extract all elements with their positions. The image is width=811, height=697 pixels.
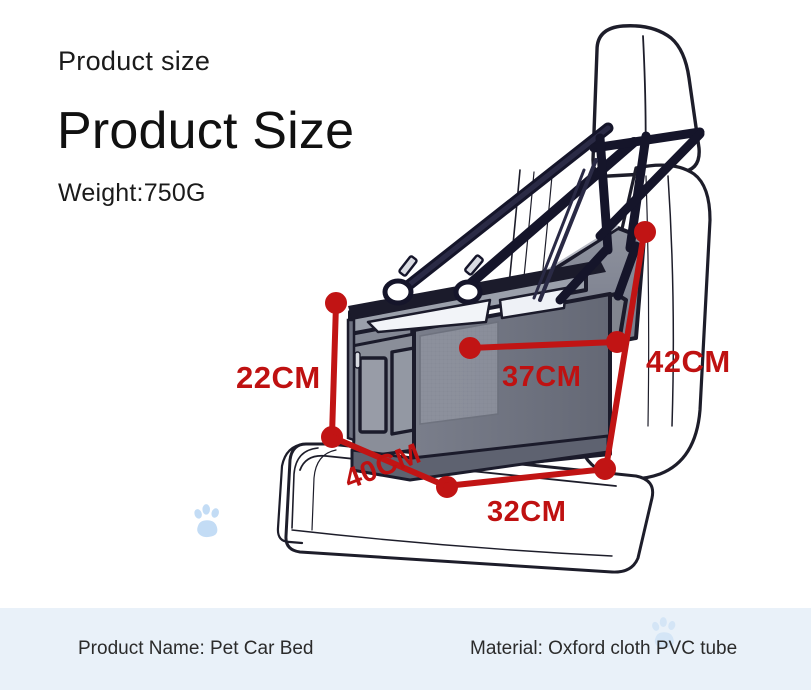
dimline-22cm [332, 304, 336, 436]
strap-front-middle [470, 142, 634, 284]
bed-inner-pad [462, 294, 626, 360]
product-illustration [0, 0, 811, 610]
bed-body-front [352, 334, 414, 458]
dimdot-37cm-left [462, 340, 478, 356]
dimension-label-42cm: 42CM [646, 344, 731, 380]
footer-material: Material: Oxford cloth PVC tube [470, 638, 737, 660]
strap-rear-a [540, 160, 596, 300]
bed-opening-highlight-right [500, 288, 566, 318]
seat-cushion [286, 444, 653, 572]
strap-clip-middle [456, 282, 480, 302]
strap-buckle-middle [465, 255, 484, 275]
bed-zipper-pull [355, 352, 360, 368]
footer-bar: Product Name: Pet Car Bed Material: Oxfo… [0, 608, 811, 690]
seat-headrest [593, 26, 699, 176]
footer-product-name: Product Name: Pet Car Bed [78, 638, 314, 660]
strap-headrest-top [594, 132, 700, 148]
strap-front-left [400, 128, 608, 292]
bed-right-mesh-window [420, 322, 498, 424]
seat-back [578, 165, 710, 479]
bed-front-rim [350, 268, 586, 334]
bed-left-window-1 [360, 358, 386, 432]
strap-headrest-vertical-b [630, 136, 646, 248]
dimline-42cm [606, 233, 644, 468]
bed-inner-back-panel [506, 228, 644, 360]
dimdot-22cm-top [328, 295, 344, 311]
strap-rear-b [534, 170, 584, 298]
dimdot-22cm-bottom [324, 429, 340, 445]
strap-headrest-vertical-a [600, 138, 608, 250]
bed-left-window-2 [392, 348, 414, 434]
dimline-37cm [470, 342, 616, 348]
strap-lower-right [618, 246, 636, 296]
strap-headrest-diag [600, 134, 700, 236]
dimdot-40cm-end [439, 479, 455, 495]
strap-lower-left [560, 250, 606, 300]
paw-print-watermark [190, 503, 226, 541]
dimension-label-37cm: 37CM [502, 361, 581, 394]
dimline-32cm [446, 469, 606, 486]
seat-bolster [278, 444, 304, 543]
page-title: Product Size [57, 101, 354, 161]
strap-front-left-shadow [400, 128, 608, 292]
bed-front-face [352, 304, 412, 434]
dimension-label-22cm: 22CM [236, 360, 321, 396]
strap-clip-left [385, 281, 411, 303]
strap-buckle-left [399, 256, 418, 277]
dimension-label-32cm: 32CM [487, 496, 566, 529]
dimdot-42cm-top [637, 224, 653, 240]
pet-bed [348, 226, 644, 480]
product-size-infographic: Product size Product Size Weight:750G [0, 0, 811, 697]
dimdot-37cm-right [609, 334, 625, 350]
seat-back-left-edge [488, 170, 520, 444]
bed-straps [385, 128, 700, 303]
bed-opening-highlight-left [368, 300, 490, 332]
weight-text: Weight:750G [58, 179, 206, 208]
bed-top-rail [348, 260, 606, 320]
dimdot-42cm-bottom [597, 461, 613, 477]
bed-left-panel [348, 320, 354, 440]
dimension-label-40cm: 40CM [340, 438, 426, 497]
eyebrow-text: Product size [58, 46, 210, 77]
